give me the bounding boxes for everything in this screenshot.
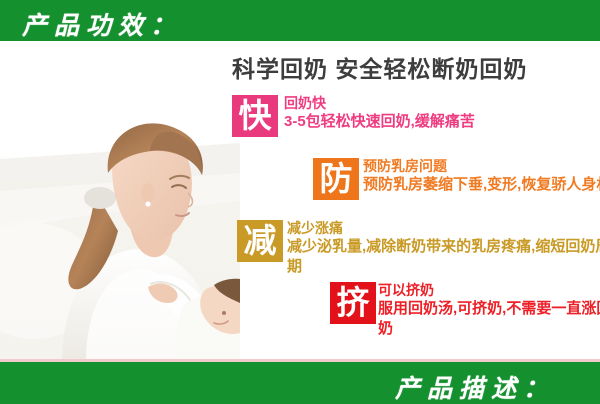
feature-body-fang: 预防乳房萎缩下垂,变形,恢复骄人身材 bbox=[363, 175, 600, 195]
badge-jian: 减 bbox=[237, 220, 283, 262]
feature-title-fang: 预防乳房问题 bbox=[363, 157, 600, 175]
feature-text-ji: 可以挤奶 服用回奶汤,可挤奶,不需要一直涨回奶 bbox=[378, 281, 600, 339]
feature-title-kuai: 回奶快 bbox=[284, 94, 600, 112]
feature-body-ji: 服用回奶汤,可挤奶,不需要一直涨回奶 bbox=[378, 299, 600, 339]
page-title: 科学回奶 安全轻松断奶回奶 bbox=[232, 50, 592, 84]
feature-title-jian: 减少涨痛 bbox=[287, 219, 600, 237]
photo-illustration bbox=[0, 41, 240, 362]
feature-text-fang: 预防乳房问题 预防乳房萎缩下垂,变形,恢复骄人身材 bbox=[363, 157, 600, 195]
top-green-banner: 产品功效： bbox=[0, 0, 600, 41]
bottom-banner-label: 产品描述： bbox=[395, 369, 555, 404]
badge-ji: 挤 bbox=[330, 282, 376, 324]
mother-and-baby-photo bbox=[0, 41, 240, 362]
feature-text-jian: 减少涨痛 减少泌乳量,减除断奶带来的乳房疼痛,缩短回奶周期 bbox=[287, 219, 600, 277]
feature-body-kuai: 3-5包轻松快速回奶,缓解痛苦 bbox=[284, 112, 600, 132]
feature-body-jian: 减少泌乳量,减除断奶带来的乳房疼痛,缩短回奶周期 bbox=[287, 237, 600, 277]
feature-text-kuai: 回奶快 3-5包轻松快速回奶,缓解痛苦 bbox=[284, 94, 600, 132]
badge-fang: 防 bbox=[313, 158, 359, 200]
top-banner-label: 产品功效： bbox=[22, 6, 182, 41]
bottom-green-banner: 产品描述： bbox=[0, 362, 600, 404]
feature-title-ji: 可以挤奶 bbox=[378, 281, 600, 299]
product-benefits-banner: 产品功效： bbox=[0, 0, 600, 404]
badge-kuai: 快 bbox=[232, 95, 278, 137]
